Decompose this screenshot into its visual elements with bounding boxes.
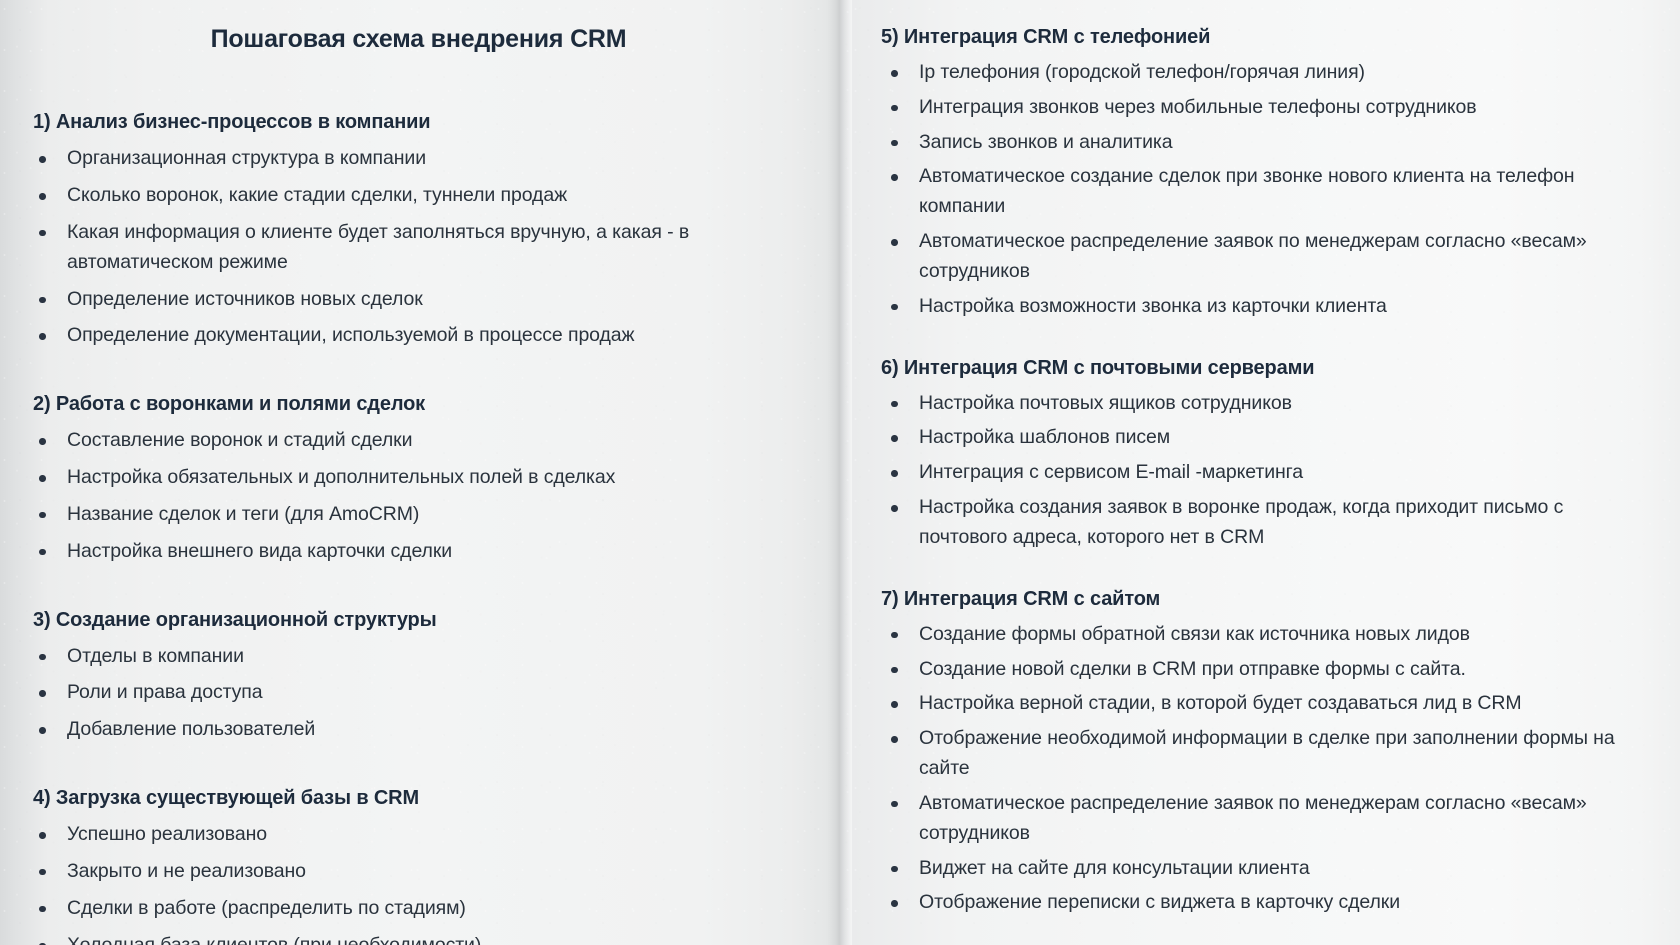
list-item: Отображение необходимой информации в сде… <box>881 724 1650 784</box>
list-item-text: Настройка внешнего вида карточки сделки <box>67 540 452 562</box>
list-item: Сделки в работе (распределить по стадиям… <box>33 894 804 924</box>
list-item: Организационная структура в компании <box>33 144 804 174</box>
bullet-dot-icon <box>891 667 898 674</box>
list-item: Настройка шаблонов писем <box>881 423 1650 453</box>
list-item: Настройка верной стадии, в которой будет… <box>881 689 1650 719</box>
bullet-dot-icon <box>891 70 898 77</box>
bullet-dot-icon <box>39 690 46 697</box>
section-5: 5) Интеграция CRM с телефонией Ip телефо… <box>881 24 1650 322</box>
list-item: Настройка возможности звонка из карточки… <box>881 292 1650 322</box>
list-item-text: Настройка обязательных и дополнительных … <box>67 466 615 488</box>
list-item: Составление воронок и стадий сделки <box>33 426 804 456</box>
bullet-dot-icon <box>891 304 898 311</box>
bullet-dot-icon <box>39 727 46 734</box>
bullet-dot-icon <box>39 906 46 913</box>
list-item: Отделы в компании <box>33 642 804 672</box>
list-item-text: Запись звонков и аналитика <box>919 131 1173 153</box>
bullet-dot-icon <box>891 470 898 477</box>
list-item: Запись звонков и аналитика <box>881 128 1650 158</box>
section-5-heading: 5) Интеграция CRM с телефонией <box>881 24 1650 50</box>
section-1-list: Организационная структура в компании Ско… <box>33 144 804 351</box>
bullet-dot-icon <box>891 866 898 873</box>
bullet-dot-icon <box>39 512 46 519</box>
list-item: Интеграция с сервисом E-mail -маркетинга <box>881 458 1650 488</box>
section-6: 6) Интеграция CRM с почтовыми серверами … <box>881 355 1650 553</box>
list-item-text: Организационная структура в компании <box>67 147 426 169</box>
list-item: Определение источников новых сделок <box>33 285 804 315</box>
list-item-text: Настройка шаблонов писем <box>919 426 1170 448</box>
list-item: Создание новой сделки в CRM при отправке… <box>881 655 1650 685</box>
list-item: Автоматическое распределение заявок по м… <box>881 789 1650 849</box>
bullet-dot-icon <box>891 801 898 808</box>
section-4-list: Успешно реализовано Закрыто и не реализо… <box>33 820 804 945</box>
bullet-dot-icon <box>891 239 898 246</box>
bullet-dot-icon <box>39 438 46 445</box>
list-item-text: Определение источников новых сделок <box>67 288 423 310</box>
bullet-dot-icon <box>891 900 898 907</box>
two-column-layout: Пошаговая схема внедрения CRM 1) Анализ … <box>0 0 1680 945</box>
bullet-dot-icon <box>891 174 898 181</box>
list-item: Автоматическое создание сделок при звонк… <box>881 162 1650 222</box>
list-item: Успешно реализовано <box>33 820 804 850</box>
bullet-dot-icon <box>39 869 46 876</box>
section-4: 4) Загрузка существующей базы в CRM Успе… <box>33 785 804 945</box>
list-item-text: Холодная база клиентов (при необходимост… <box>67 934 481 945</box>
list-item-text: Название сделок и теги (для AmoCRM) <box>67 503 419 525</box>
list-item: Отображение переписки с виджета в карточ… <box>881 888 1650 918</box>
list-item-text: Сколько воронок, какие стадии сделки, ту… <box>67 184 567 206</box>
bullet-dot-icon <box>39 230 46 237</box>
list-item: Закрыто и не реализовано <box>33 857 804 887</box>
list-item-text: Отображение необходимой информации в сде… <box>919 727 1615 779</box>
list-item-text: Интеграция с сервисом E-mail -маркетинга <box>919 461 1303 483</box>
list-item-text: Определение документации, используемой в… <box>67 324 634 346</box>
section-6-heading: 6) Интеграция CRM с почтовыми серверами <box>881 355 1650 381</box>
list-item: Настройка создания заявок в воронке прод… <box>881 493 1650 553</box>
section-7-list: Создание формы обратной связи как источн… <box>881 620 1650 918</box>
document-page: Пошаговая схема внедрения CRM 1) Анализ … <box>0 0 1680 945</box>
list-item-text: Какая информация о клиенте будет заполня… <box>67 221 689 273</box>
list-item: Какая информация о клиенте будет заполня… <box>33 218 804 278</box>
page-title: Пошаговая схема внедрения CRM <box>33 0 804 55</box>
section-6-list: Настройка почтовых ящиков сотрудников На… <box>881 389 1650 553</box>
section-7-heading: 7) Интеграция CRM с сайтом <box>881 586 1650 612</box>
bullet-dot-icon <box>39 333 46 340</box>
right-column: 5) Интеграция CRM с телефонией Ip телефо… <box>826 0 1680 945</box>
list-item-text: Настройка возможности звонка из карточки… <box>919 295 1387 317</box>
section-2-list: Составление воронок и стадий сделки Наст… <box>33 426 804 566</box>
list-item-text: Закрыто и не реализовано <box>67 860 306 882</box>
list-item: Ip телефония (городской телефон/горячая … <box>881 58 1650 88</box>
left-column: Пошаговая схема внедрения CRM 1) Анализ … <box>0 0 826 945</box>
list-item: Название сделок и теги (для AmoCRM) <box>33 500 804 530</box>
list-item: Создание формы обратной связи как источн… <box>881 620 1650 650</box>
bullet-dot-icon <box>39 654 46 661</box>
list-item-text: Автоматическое распределение заявок по м… <box>919 230 1587 282</box>
section-3: 3) Создание организационной структуры От… <box>33 607 804 745</box>
section-2-heading: 2) Работа с воронками и полями сделок <box>33 391 804 417</box>
list-item-text: Роли и права доступа <box>67 681 263 703</box>
list-item: Виджет на сайте для консультации клиента <box>881 854 1650 884</box>
section-4-heading: 4) Загрузка существующей базы в CRM <box>33 785 804 811</box>
list-item-text: Настройка верной стадии, в которой будет… <box>919 692 1522 714</box>
bullet-dot-icon <box>891 435 898 442</box>
list-item-text: Виджет на сайте для консультации клиента <box>919 857 1310 879</box>
section-3-heading: 3) Создание организационной структуры <box>33 607 804 633</box>
list-item: Холодная база клиентов (при необходимост… <box>33 931 804 945</box>
list-item: Настройка обязательных и дополнительных … <box>33 463 804 493</box>
section-2: 2) Работа с воронками и полями сделок Со… <box>33 391 804 566</box>
list-item-text: Автоматическое распределение заявок по м… <box>919 792 1587 844</box>
list-item-text: Создание новой сделки в CRM при отправке… <box>919 658 1466 680</box>
section-3-list: Отделы в компании Роли и права доступа Д… <box>33 642 804 745</box>
list-item: Роли и права доступа <box>33 678 804 708</box>
bullet-dot-icon <box>891 105 898 112</box>
bullet-dot-icon <box>891 736 898 743</box>
bullet-dot-icon <box>891 505 898 512</box>
list-item-text: Успешно реализовано <box>67 823 267 845</box>
bullet-dot-icon <box>891 701 898 708</box>
bullet-dot-icon <box>891 632 898 639</box>
list-item-text: Настройка почтовых ящиков сотрудников <box>919 392 1292 414</box>
list-item-text: Интеграция звонков через мобильные телеф… <box>919 96 1477 118</box>
list-item: Интеграция звонков через мобильные телеф… <box>881 93 1650 123</box>
bullet-dot-icon <box>891 140 898 147</box>
list-item-text: Ip телефония (городской телефон/горячая … <box>919 61 1365 83</box>
list-item-text: Настройка создания заявок в воронке прод… <box>919 496 1563 548</box>
section-5-list: Ip телефония (городской телефон/горячая … <box>881 58 1650 322</box>
list-item-text: Сделки в работе (распределить по стадиям… <box>67 897 466 919</box>
list-item: Сколько воронок, какие стадии сделки, ту… <box>33 181 804 211</box>
section-1: 1) Анализ бизнес-процессов в компании Ор… <box>33 109 804 351</box>
list-item-text: Автоматическое создание сделок при звонк… <box>919 165 1574 217</box>
list-item-text: Отделы в компании <box>67 645 244 667</box>
list-item-text: Создание формы обратной связи как источн… <box>919 623 1470 645</box>
section-1-heading: 1) Анализ бизнес-процессов в компании <box>33 109 804 135</box>
bullet-dot-icon <box>39 156 46 163</box>
bullet-dot-icon <box>39 297 46 304</box>
list-item-text: Добавление пользователей <box>67 718 315 740</box>
section-7: 7) Интеграция CRM с сайтом Создание форм… <box>881 586 1650 918</box>
list-item: Добавление пользователей <box>33 715 804 745</box>
bullet-dot-icon <box>39 475 46 482</box>
list-item: Определение документации, используемой в… <box>33 321 804 351</box>
list-item: Автоматическое распределение заявок по м… <box>881 227 1650 287</box>
list-item-text: Отображение переписки с виджета в карточ… <box>919 891 1400 913</box>
bullet-dot-icon <box>39 832 46 839</box>
list-item-text: Составление воронок и стадий сделки <box>67 429 412 451</box>
list-item: Настройка внешнего вида карточки сделки <box>33 537 804 567</box>
bullet-dot-icon <box>39 193 46 200</box>
bullet-dot-icon <box>39 549 46 556</box>
list-item: Настройка почтовых ящиков сотрудников <box>881 389 1650 419</box>
bullet-dot-icon <box>891 401 898 408</box>
